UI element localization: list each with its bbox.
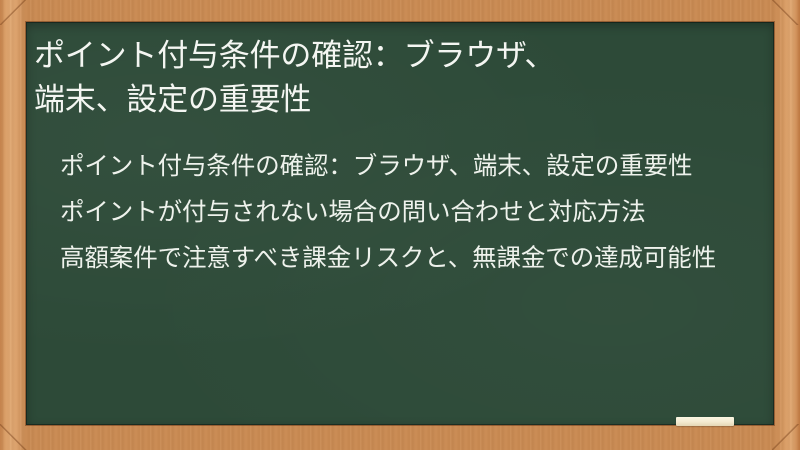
slide-bullet-list: ポイント付与条件の確認：ブラウザ、端末、設定の重要性 ポイントが付与されない場合… — [54, 148, 760, 287]
list-item: ポイント付与条件の確認：ブラウザ、端末、設定の重要性 — [54, 148, 760, 185]
list-item: ポイントが付与されない場合の問い合わせと対応方法 — [54, 194, 760, 231]
frame-corner-top-right — [772, 0, 800, 25]
frame-corner-top-left — [0, 0, 27, 25]
list-item: 高額案件で注意すべき課金リスクと、無課金での達成可能性 — [54, 240, 760, 277]
frame-corner-bottom-right — [772, 424, 800, 450]
chalkboard-surface: ポイント付与条件の確認：ブラウザ、 端末、設定の重要性 ポイント付与条件の確認：… — [26, 22, 774, 425]
chalk-stick — [676, 417, 734, 426]
chalkboard-slide: ポイント付与条件の確認：ブラウザ、 端末、設定の重要性 ポイント付与条件の確認：… — [0, 0, 800, 450]
frame-corner-bottom-left — [0, 424, 27, 450]
slide-title: ポイント付与条件の確認：ブラウザ、 端末、設定の重要性 — [34, 34, 758, 122]
